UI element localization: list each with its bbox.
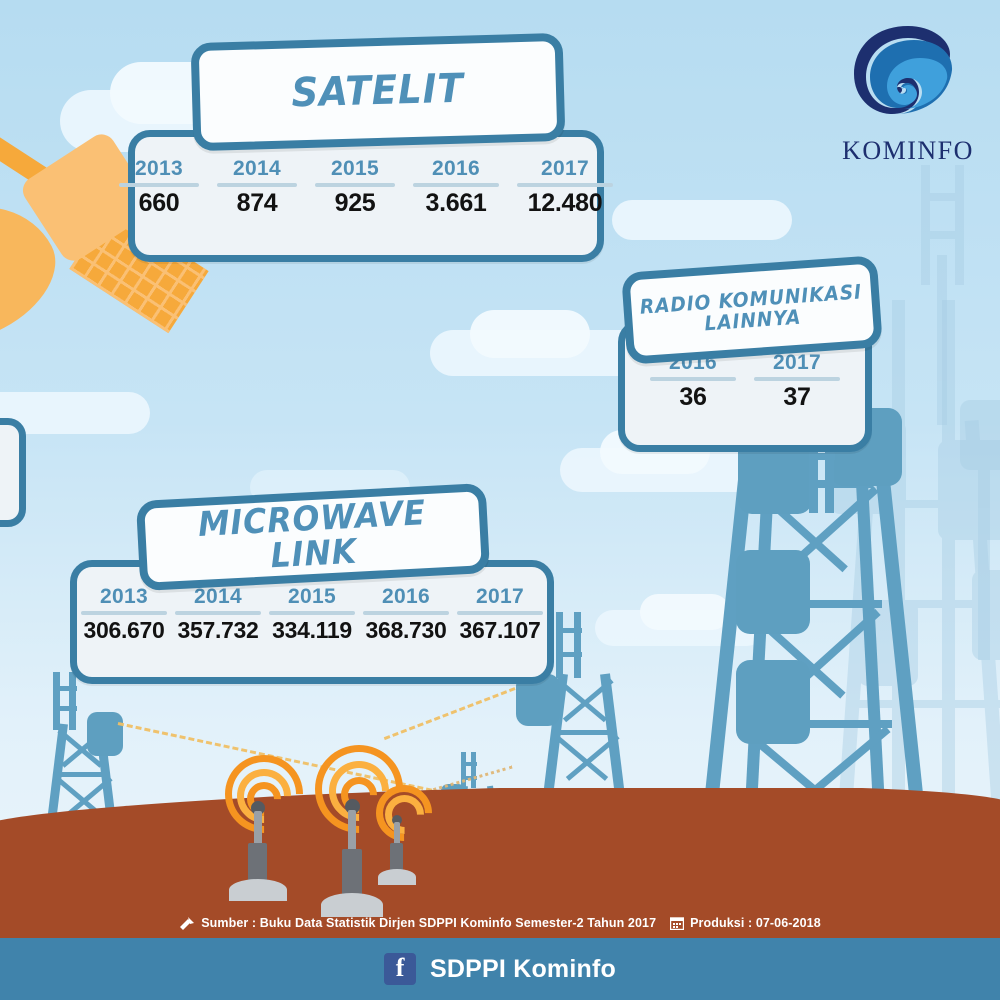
stat-value: 37 [783,383,810,412]
stat-value: 334.119 [272,617,352,644]
year-label: 2016 [432,158,480,180]
social-bar: f SDPPI Kominfo [0,938,1000,1000]
calendar-icon [670,916,684,930]
stat-column: 2016 3.661 [404,158,508,218]
source-text: Sumber : Buku Data Statistik Dirjen SDPP… [201,916,656,930]
divider [754,377,840,381]
card-title-line2: LAINNYA [704,307,802,334]
divider [457,611,543,615]
divider [413,183,499,187]
stat-column: 2016 368.730 [359,586,453,644]
satellite-dish-icon [179,916,195,930]
stat-column: 2013 660 [110,158,208,218]
divider [315,183,395,187]
stat-column: 2015 925 [306,158,404,218]
divider [119,183,199,187]
year-label: 2017 [476,586,524,608]
stat-value: 660 [139,189,180,218]
year-label: 2014 [233,158,281,180]
divider [517,183,613,187]
dish-antenna [736,550,810,634]
signal-mast [215,755,311,895]
divider [217,183,297,187]
stat-value: 12.480 [528,189,603,218]
production-date-text: Produksi : 07-06-2018 [690,916,821,930]
microwave-rows: 2013 306.670 2014 357.732 2015 334.119 2… [70,586,554,644]
card-title: SATELIT [291,69,464,115]
divider [269,611,355,615]
kominfo-wave-logo-icon [848,22,968,134]
divider [363,611,449,615]
stat-value: 925 [335,189,376,218]
microwave-title-ribbon: MICROWAVE LINK [136,483,490,591]
cloud [612,200,792,240]
year-label: 2013 [135,158,183,180]
divider [81,611,167,615]
dish-antenna [736,660,810,744]
stat-column: 2014 874 [208,158,306,218]
stat-column: 2014 357.732 [171,586,265,644]
stat-column: 2015 334.119 [265,586,359,644]
year-label: 2017 [541,158,589,180]
stat-column: 2017 37 [745,352,849,412]
stat-value: 3.661 [425,189,486,218]
year-label: 2013 [100,586,148,608]
year-label: 2014 [194,586,242,608]
cloud [640,594,730,630]
year-label: 2015 [331,158,379,180]
stat-value: 874 [237,189,278,218]
stat-column: 2013 306.670 [77,586,171,644]
divider [650,377,736,381]
card-title: MICROWAVE LINK [156,494,470,580]
satelit-title-ribbon: SATELIT [191,33,566,151]
infographic-canvas: 2013 660 2014 874 2015 925 2016 3.661 20… [0,0,1000,1000]
dish-antenna [87,712,123,756]
year-label: 2016 [382,586,430,608]
logo-text: KOMINFO [838,136,978,166]
stat-value: 367.107 [459,617,540,644]
signal-mast [370,785,440,895]
stat-column: 2017 12.480 [508,158,622,218]
year-label: 2017 [773,352,821,374]
divider [175,611,261,615]
stat-column: 2017 367.107 [453,586,547,644]
radio-title-ribbon: RADIO KOMUNIKASI LAINNYA [621,255,883,365]
stat-value: 306.670 [83,617,164,644]
stat-value: 357.732 [177,617,258,644]
facebook-page-name[interactable]: SDPPI Kominfo [430,955,616,984]
stat-value: 368.730 [365,617,446,644]
facebook-icon[interactable]: f [384,953,416,985]
source-bar: Sumber : Buku Data Statistik Dirjen SDPP… [0,908,1000,938]
year-label: 2015 [288,586,336,608]
background-tower [960,400,1000,660]
stat-value: 36 [679,383,706,412]
kominfo-logo: KOMINFO [838,22,978,172]
cloud [470,310,590,358]
satelit-rows: 2013 660 2014 874 2015 925 2016 3.661 20… [128,158,604,218]
clipped-card-edge [0,418,26,527]
